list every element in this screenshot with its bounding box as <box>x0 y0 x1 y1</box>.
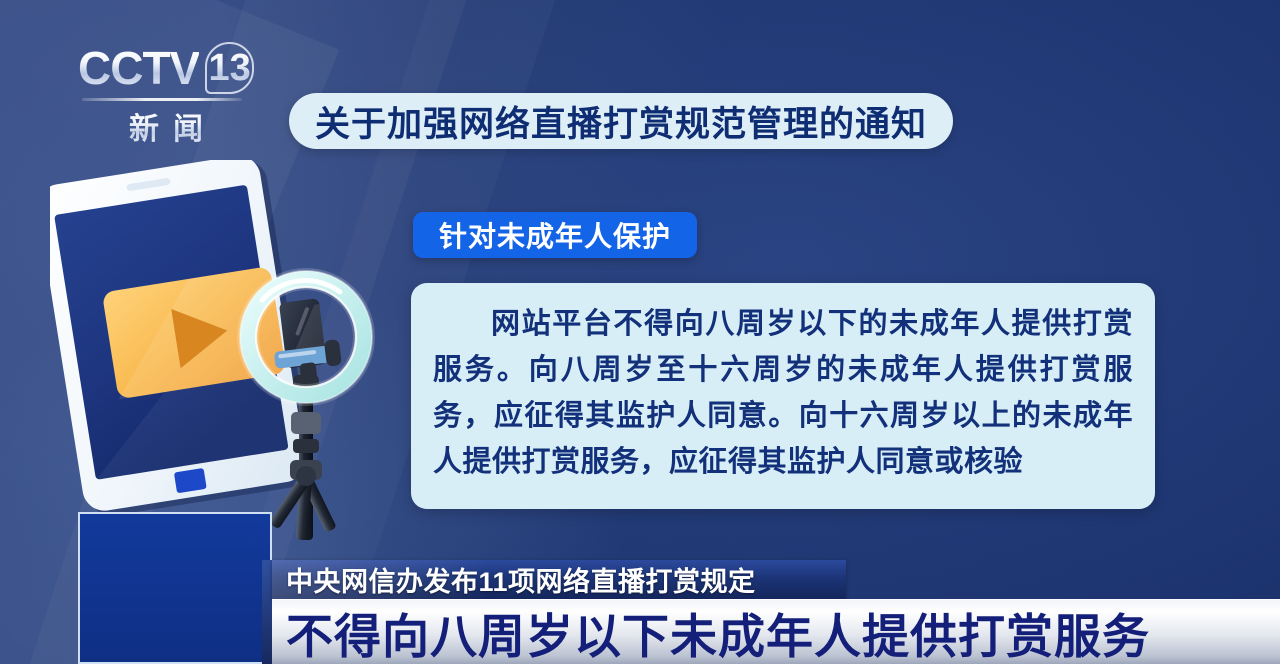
main-title-text: 关于加强网络直播打赏规范管理的通知 <box>315 96 927 147</box>
lower-third-kicker-text: 中央网信办发布11项网络直播打赏规定 <box>286 560 756 599</box>
section-badge-text: 针对未成年人保护 <box>439 215 671 255</box>
regulation-body-card: 网站平台不得向八周岁以下的未成年人提供打赏服务。向八周岁至十六周岁的未成年人提供… <box>411 283 1155 509</box>
anchor-backdrop <box>80 514 270 662</box>
lower-third-headline-bar: 不得向八周岁以下未成年人提供打赏服务 <box>272 599 1280 664</box>
tablet-device <box>50 160 315 520</box>
main-title-pill: 关于加强网络直播打赏规范管理的通知 <box>289 93 953 149</box>
logo-cctv-text: CCTV <box>78 45 199 91</box>
logo-channel-number: 13 <box>205 45 254 91</box>
broadcast-screen: CCTV 13 新闻 <box>0 0 1280 664</box>
lower-third-kicker-bar: 中央网信办发布11项网络直播打赏规定 <box>272 560 846 599</box>
anchor-video-window <box>78 512 272 664</box>
logo-top-row: CCTV 13 <box>78 40 254 96</box>
cctv13-logo: CCTV 13 新闻 <box>78 40 254 144</box>
section-badge: 针对未成年人保护 <box>413 212 697 258</box>
lower-third-headline-text: 不得向八周岁以下未成年人提供打赏服务 <box>286 598 1150 664</box>
logo-chinese-name: 新闻 <box>78 104 254 148</box>
regulation-body-text: 网站平台不得向八周岁以下的未成年人提供打赏服务。向八周岁至十六周岁的未成年人提供… <box>433 301 1133 485</box>
lower-third-left-cap <box>262 560 272 664</box>
logo-channel-number-badge: 13 <box>205 42 254 94</box>
logo-underline <box>82 98 242 101</box>
